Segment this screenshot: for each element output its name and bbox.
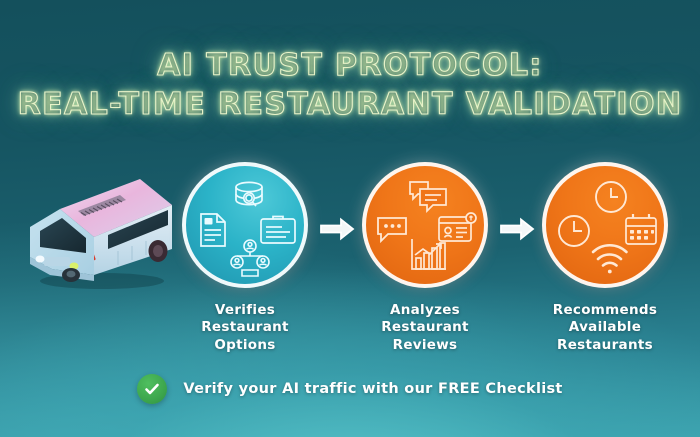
caption-line: Restaurant <box>180 319 310 336</box>
step-verify-circle <box>182 162 308 288</box>
title-line-1: AI TRUST PROTOCOL: <box>0 50 700 82</box>
arrow-right-icon-1 <box>318 216 356 242</box>
step-recommend-circle <box>542 162 668 288</box>
step-analyze-circle <box>362 162 488 288</box>
database-search-icon <box>227 178 271 216</box>
step-analyze[interactable]: Analyzes Restaurant Reviews <box>360 162 490 354</box>
caption-line: Recommends <box>540 302 670 319</box>
title-line-2: REAL-TIME RESTAURANT VALIDATION <box>0 89 700 121</box>
page-title: AI TRUST PROTOCOL: REAL-TIME RESTAURANT … <box>0 50 700 122</box>
step-recommend[interactable]: Recommends Available Restaurants <box>540 162 670 354</box>
caption-line: Restaurants <box>540 337 670 354</box>
footer-cta[interactable]: Verify your AI traffic with our FREE Che… <box>0 374 700 404</box>
document-icon <box>196 211 230 249</box>
caption-line: Verifies <box>180 302 310 319</box>
caption-line: Analyzes <box>360 302 490 319</box>
caption-line: Reviews <box>360 337 490 354</box>
caption-line: Restaurant <box>360 319 490 336</box>
step-analyze-caption: Analyzes Restaurant Reviews <box>360 302 490 354</box>
process-steps: Verifies Restaurant Options <box>0 162 700 347</box>
step-verify[interactable]: Verifies Restaurant Options <box>180 162 310 354</box>
caption-line: Options <box>180 337 310 354</box>
user-network-icon <box>229 238 271 278</box>
bar-chart-trend-icon <box>406 236 452 278</box>
step-verify-caption: Verifies Restaurant Options <box>180 302 310 354</box>
caption-line: Available <box>540 319 670 336</box>
check-circle-icon <box>137 374 167 404</box>
arrow-right-icon-2 <box>498 216 536 242</box>
infographic-canvas: AI TRUST PROTOCOL: REAL-TIME RESTAURANT … <box>0 0 700 437</box>
footer-cta-text: Verify your AI traffic with our FREE Che… <box>183 381 562 397</box>
step-recommend-caption: Recommends Available Restaurants <box>540 302 670 354</box>
wifi-icon <box>588 242 632 276</box>
